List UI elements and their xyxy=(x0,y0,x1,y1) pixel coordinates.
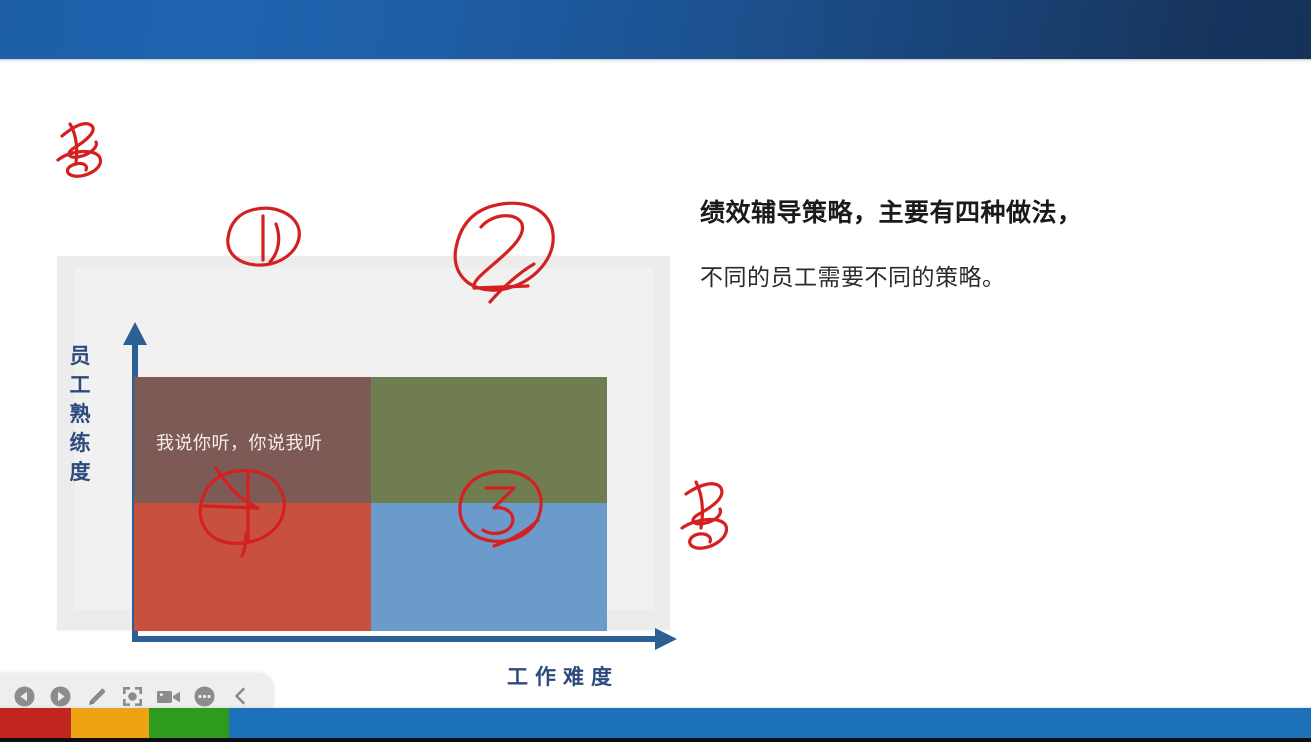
x-axis-label: 工作难度 xyxy=(507,661,619,691)
copy-heading: 绩效辅导策略，主要有四种做法， xyxy=(700,196,1220,230)
bottom-progress-bar[interactable] xyxy=(0,708,1311,738)
y-axis-label: 员工熟练度 xyxy=(63,341,97,486)
slide-copy: 绩效辅导策略，主要有四种做法， 不同的员工需要不同的策略。 xyxy=(700,196,1220,294)
segment-green[interactable] xyxy=(149,708,229,738)
more-dots-icon xyxy=(194,686,215,707)
y-axis-arrow-icon xyxy=(123,322,147,345)
ink-squiggle-top-left xyxy=(58,124,101,177)
slide-stage: 员工熟练度 工作难度 我说你听，你说我听 xyxy=(0,64,1311,664)
chevron-left-icon xyxy=(232,686,248,706)
quadrant-top-right xyxy=(371,377,607,503)
video-camera-icon xyxy=(156,687,181,706)
quadrant-top-left: 我说你听，你说我听 xyxy=(134,377,371,503)
figure-plate: 员工熟练度 工作难度 我说你听，你说我听 xyxy=(57,256,670,630)
x-axis-line xyxy=(132,636,662,642)
ink-squiggle-bottom-right xyxy=(682,482,727,548)
quadrant-bottom-left xyxy=(134,503,371,631)
top-window-bar xyxy=(0,0,1311,59)
quadrant-bottom-right xyxy=(371,503,607,631)
x-axis-arrow-icon xyxy=(655,628,677,650)
quadrant-matrix-figure: 员工熟练度 工作难度 我说你听，你说我听 xyxy=(57,190,670,630)
quadrant-top-left-label: 我说你听，你说我听 xyxy=(156,429,323,455)
window-bottom-edge xyxy=(0,738,1311,742)
segment-orange[interactable] xyxy=(71,708,149,738)
copy-body: 不同的员工需要不同的策略。 xyxy=(700,262,1220,294)
previous-icon xyxy=(14,686,35,707)
play-icon xyxy=(50,686,71,707)
segment-red[interactable] xyxy=(0,708,71,738)
